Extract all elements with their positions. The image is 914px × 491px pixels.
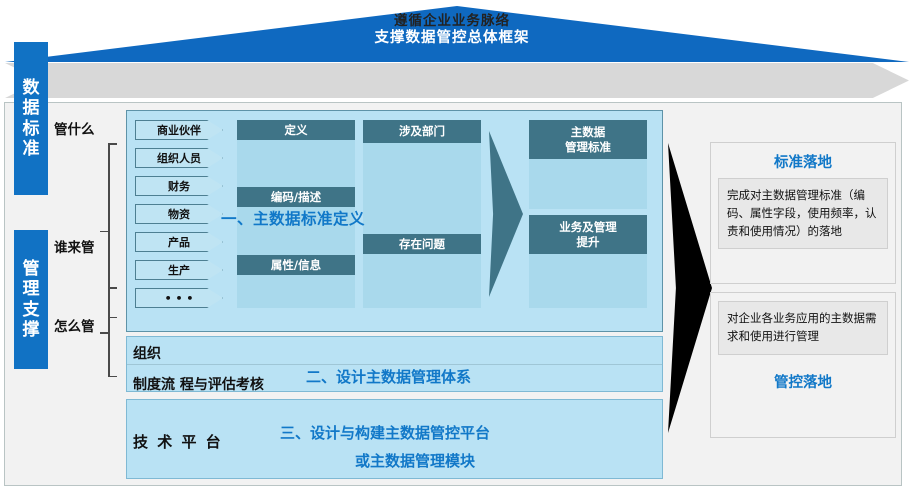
pillar-data-standard: 数 据 标 准 — [14, 42, 48, 195]
pillar-char: 理 — [23, 279, 40, 299]
outcome-column: 标准落地 完成对主数据管理标准（编码、属性字段，使用频率，认责和使用情况）的落地… — [710, 142, 896, 438]
divider — [127, 364, 662, 365]
pillar-char: 准 — [23, 139, 40, 159]
mid-block-departments[interactable]: 涉及部门 — [363, 120, 481, 143]
business-band — [5, 63, 909, 98]
domain-chip-product[interactable]: 产品 — [135, 232, 223, 252]
domain-chip-production[interactable]: 生产 — [135, 260, 223, 280]
outcome-body: 完成对主数据管理标准（编码、属性字段，使用频率，认责和使用情况）的落地 — [718, 178, 888, 249]
pillar-management-support: 管 理 支 撑 — [14, 230, 48, 369]
result-block-standard[interactable]: 主数据 管理标准 — [529, 120, 647, 159]
outcome-heading: 管控落地 — [711, 363, 895, 398]
section-three-title-line2: 或主数据管理模块 — [355, 450, 475, 471]
label-process: 制度流 程与评估考核 — [133, 374, 264, 394]
result-line: 提升 — [577, 235, 600, 249]
sublabel-who: 谁来管 — [54, 236, 95, 256]
pillar-char: 管 — [23, 259, 40, 279]
label-organization: 组织 — [133, 343, 161, 363]
domain-chip-organization[interactable]: 组织人员 — [135, 148, 223, 168]
outcome-card-control[interactable]: 对企业各业务应用的主数据需求和使用进行管理 管控落地 — [710, 292, 896, 438]
section-three-title-line1: 三、设计与构建主数据管控平台 — [280, 422, 490, 443]
outcome-card-standard[interactable]: 标准落地 完成对主数据管理标准（编码、属性字段，使用频率，认责和使用情况）的落地 — [710, 142, 896, 284]
domain-chip-more[interactable]: • • • — [135, 288, 223, 308]
result-line: 业务及管理 — [559, 220, 617, 234]
domain-chip-finance[interactable]: 财务 — [135, 176, 223, 196]
attr-block-code-desc[interactable]: 编码/描述 — [237, 187, 355, 207]
sublabel-what: 管什么 — [54, 118, 95, 138]
domain-chip-business-partner[interactable]: 商业伙伴 — [135, 120, 223, 140]
mid-block-issues[interactable]: 存在问题 — [363, 234, 481, 254]
panel-title: 一、主数据标准定义 — [221, 207, 365, 229]
pillar-char: 数 — [23, 78, 40, 98]
pillar-char: 支 — [23, 300, 40, 320]
domain-chip-material[interactable]: 物资 — [135, 204, 223, 224]
band-title: 遵循企业业务脉络 — [0, 9, 904, 29]
label-tech-platform: 技 术 平 台 — [133, 431, 223, 452]
slide-canvas: 支撑数据管控总体框架 遵循企业业务脉络 数 据 标 准 管 理 支 撑 管什么 … — [0, 0, 914, 491]
brace-how — [100, 287, 118, 377]
pillar-char: 标 — [23, 119, 40, 139]
section-two-title: 二、设计主数据管理体系 — [306, 366, 471, 387]
sublabel-how: 怎么管 — [54, 315, 95, 335]
result-line: 管理标准 — [565, 140, 611, 154]
pillar-char: 撑 — [23, 320, 40, 340]
result-block-business[interactable]: 业务及管理 提升 — [529, 215, 647, 254]
outcome-body: 对企业各业务应用的主数据需求和使用进行管理 — [718, 301, 888, 355]
attr-block-attr-info[interactable]: 属性/信息 — [237, 255, 355, 275]
outcome-heading: 标准落地 — [711, 143, 895, 178]
attr-block-definition[interactable]: 定义 — [237, 120, 355, 140]
flow-arrow-icon — [489, 131, 523, 297]
standard-definition-panel: 商业伙伴 组织人员 财务 物资 产品 生产 • • • 定义 编码/描述 属性/… — [126, 110, 663, 332]
pillar-char: 据 — [23, 98, 40, 118]
middle-column-backing — [363, 120, 481, 308]
result-line: 主数据 — [571, 125, 606, 139]
roof-title: 支撑数据管控总体框架 — [0, 26, 904, 47]
